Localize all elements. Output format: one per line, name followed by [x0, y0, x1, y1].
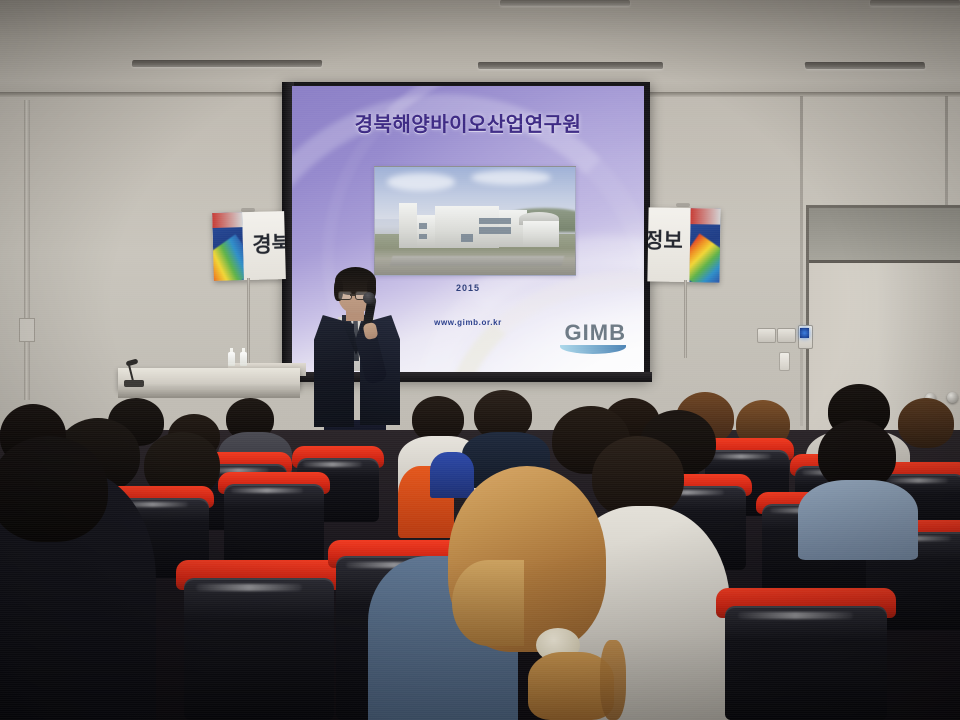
- slide-logo: GIMB: [560, 322, 626, 354]
- photo-window: [419, 223, 427, 228]
- wall-seam: [800, 96, 803, 426]
- ceiling-light-slot: [500, 0, 630, 6]
- banner-top-accent: [690, 208, 720, 225]
- audience-head: [0, 436, 108, 542]
- ceiling-light-slot: [132, 60, 323, 67]
- foreground-hair-side: [452, 560, 524, 646]
- audience-torso: [430, 452, 474, 498]
- seat-highlight: [738, 612, 853, 619]
- photo-window: [479, 218, 511, 224]
- seat-back: [725, 606, 887, 720]
- eyeglasses-icon: [338, 291, 352, 300]
- seat-highlight: [196, 584, 302, 591]
- eyeglasses-bridge: [350, 294, 355, 296]
- photo-window: [479, 227, 511, 233]
- banner-left-text: 경북: [252, 228, 286, 259]
- auditorium-seat[interactable]: [716, 588, 896, 720]
- banner-clip: [676, 203, 690, 207]
- water-bottle: [240, 352, 247, 366]
- gooseneck-microphone-base: [124, 380, 144, 387]
- head-table: [118, 368, 300, 390]
- door-handle-icon[interactable]: [947, 392, 958, 403]
- photo-entrance: [461, 234, 473, 242]
- ceiling-light-slot: [478, 62, 663, 69]
- auditorium-seat[interactable]: [176, 560, 342, 720]
- light-switch[interactable]: [757, 328, 776, 343]
- photo-cloud: [387, 173, 455, 190]
- slide-title: 경북해양바이오산업연구원: [292, 108, 644, 137]
- photo-building-annex: [523, 221, 559, 247]
- head-table-apron: [118, 388, 300, 398]
- seat-highlight: [889, 478, 948, 483]
- audience-torso: [798, 480, 918, 560]
- conduit-junction-box: [19, 318, 35, 342]
- banner-pole: [684, 280, 687, 358]
- ceiling-light-slot: [870, 0, 960, 6]
- seat-back: [184, 578, 333, 720]
- seat-highlight: [231, 488, 303, 493]
- auditorium-seat[interactable]: [218, 472, 330, 566]
- auditorium-photo-scene: 경북해양바이오산업연구원 2015 www.gimb.or.kr GIMB: [0, 0, 960, 720]
- foreground-ponytail-strand: [600, 640, 626, 720]
- banner-graphic: [689, 208, 720, 283]
- wall-sensor: [779, 352, 790, 371]
- seat-highlight: [303, 462, 362, 467]
- slide-building-photo: [374, 166, 576, 276]
- banner-right: 정보: [647, 207, 720, 282]
- photo-building-tower: [399, 203, 417, 248]
- banner-right-text: 정보: [647, 224, 683, 255]
- banner-left: 경북: [212, 211, 286, 281]
- water-bottle: [228, 352, 235, 366]
- seat-back: [224, 484, 325, 566]
- seat-highlight: [711, 454, 771, 459]
- ceiling-light-slot: [805, 62, 926, 69]
- door-transom-window: [809, 208, 960, 263]
- banner-pole: [247, 278, 250, 368]
- access-panel-led-icon: [800, 328, 809, 338]
- wall-conduit: [24, 100, 30, 400]
- photo-window: [419, 234, 427, 239]
- audience-head: [898, 398, 954, 448]
- banner-graphic: [212, 212, 244, 281]
- presenter: [308, 265, 404, 455]
- banner-top-accent: [212, 212, 242, 228]
- slide-logo-text: GIMB: [560, 322, 626, 344]
- light-switch[interactable]: [777, 328, 796, 343]
- photo-roadway: [390, 256, 565, 266]
- slide-logo-swoosh-icon: [560, 345, 626, 354]
